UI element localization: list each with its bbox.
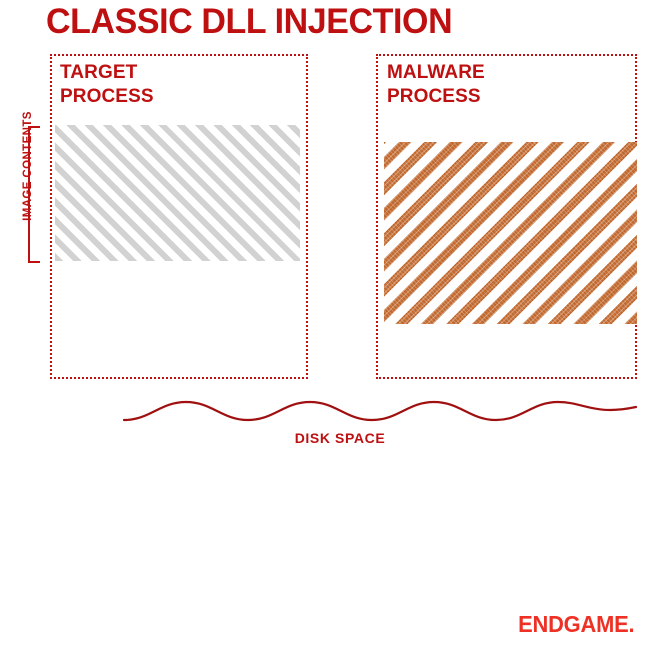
endgame-logo: ENDGAME.: [518, 611, 634, 638]
image-contents-label: IMAGE CONTENTS: [22, 86, 34, 246]
diagram-canvas: CLASSIC DLL INJECTION TARGET PROCESS MAL…: [0, 0, 652, 650]
malware-image-contents-hatch: [384, 142, 637, 324]
page-title: CLASSIC DLL INJECTION: [46, 2, 452, 42]
malware-process-label: MALWARE PROCESS: [387, 61, 485, 109]
disk-space-wave-icon: [120, 392, 640, 428]
target-image-contents-hatch: [55, 125, 300, 261]
disk-space-label: DISK SPACE: [240, 430, 440, 446]
target-process-label: TARGET PROCESS: [60, 61, 154, 109]
